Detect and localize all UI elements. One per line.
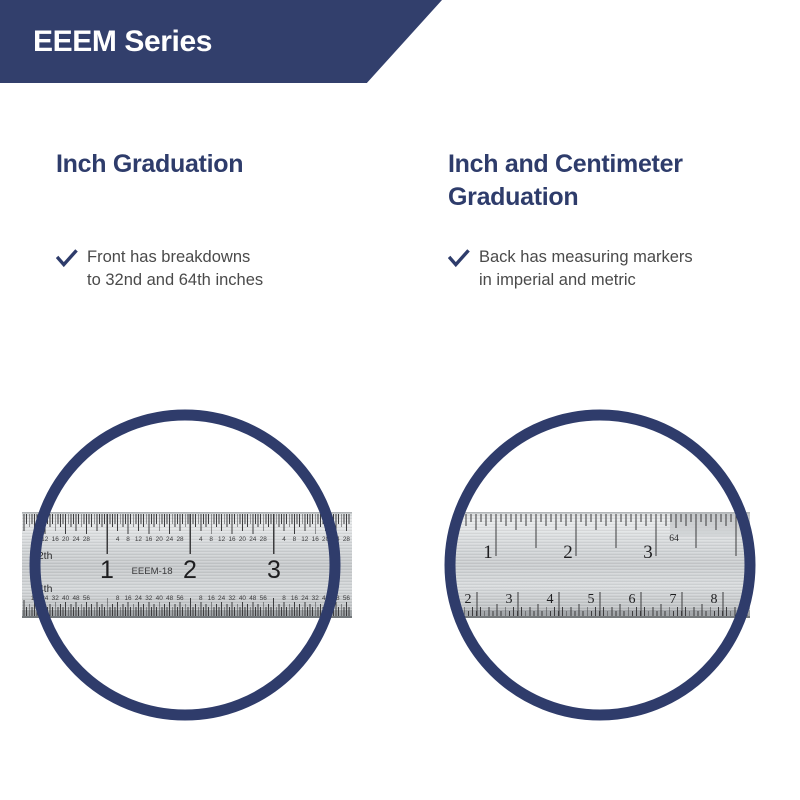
svg-text:4: 4 xyxy=(547,592,554,607)
svg-text:8: 8 xyxy=(199,595,203,602)
svg-text:12: 12 xyxy=(135,536,143,543)
svg-text:8: 8 xyxy=(116,595,120,602)
svg-text:24: 24 xyxy=(218,595,226,602)
svg-text:32: 32 xyxy=(228,595,236,602)
svg-text:32: 32 xyxy=(145,595,153,602)
back-inch-numerals: 1 2 3 64 xyxy=(483,534,679,563)
svg-text:40: 40 xyxy=(62,595,70,602)
svg-text:40: 40 xyxy=(322,595,330,602)
svg-text:8: 8 xyxy=(126,536,130,543)
svg-text:7: 7 xyxy=(670,592,677,607)
svg-text:8: 8 xyxy=(209,536,213,543)
circle-ring-back xyxy=(450,415,750,715)
svg-text:2: 2 xyxy=(465,592,472,607)
svg-text:1: 1 xyxy=(100,556,114,584)
svg-text:56: 56 xyxy=(260,595,268,602)
svg-text:56: 56 xyxy=(176,595,184,602)
svg-text:12: 12 xyxy=(301,536,309,543)
svg-text:32: 32 xyxy=(312,595,320,602)
page-title: EEEM Series xyxy=(33,24,212,60)
svg-text:20: 20 xyxy=(322,536,330,543)
svg-text:32: 32 xyxy=(52,595,60,602)
svg-text:16: 16 xyxy=(208,595,216,602)
svg-text:12: 12 xyxy=(41,536,49,543)
front-scale-labels: 32th 64th xyxy=(32,550,53,595)
svg-text:48: 48 xyxy=(332,595,340,602)
svg-text:3: 3 xyxy=(267,556,281,584)
svg-text:24: 24 xyxy=(332,536,340,543)
svg-text:28: 28 xyxy=(343,536,351,543)
svg-text:8: 8 xyxy=(33,536,37,543)
svg-text:28: 28 xyxy=(260,536,268,543)
svg-text:40: 40 xyxy=(239,595,247,602)
svg-text:3: 3 xyxy=(506,592,513,607)
svg-text:8: 8 xyxy=(293,536,297,543)
svg-text:24: 24 xyxy=(166,536,174,543)
svg-text:56: 56 xyxy=(83,595,91,602)
bullet-inch-centimeter: Back has measuring markers in imperial a… xyxy=(448,246,788,292)
svg-text:24: 24 xyxy=(135,595,143,602)
svg-text:4: 4 xyxy=(282,536,286,543)
svg-text:24: 24 xyxy=(249,536,257,543)
figure-ruler-front: 81216 202428 4812 162024 28 4812 162024 … xyxy=(22,415,352,715)
feature-columns: Inch Graduation Front has breakdowns to … xyxy=(0,148,800,292)
svg-text:2: 2 xyxy=(183,556,197,584)
svg-text:20: 20 xyxy=(239,536,247,543)
svg-text:5: 5 xyxy=(588,592,595,607)
svg-text:8: 8 xyxy=(282,595,286,602)
feature-column-inch-cm: Inch and Centimeter Graduation Back has … xyxy=(0,148,800,292)
svg-text:16: 16 xyxy=(145,536,153,543)
front-bottom-tick-numbers: 162432 404856 81624 324048 56 81624 3240… xyxy=(31,595,351,602)
ruler-brand: EEEM-18 xyxy=(131,566,172,577)
svg-text:20: 20 xyxy=(156,536,164,543)
svg-text:8: 8 xyxy=(711,592,718,607)
svg-text:40: 40 xyxy=(156,595,164,602)
svg-text:48: 48 xyxy=(72,595,80,602)
svg-text:56: 56 xyxy=(343,595,351,602)
front-inch-numerals: 1 2 3 EEEM-18 xyxy=(100,556,281,584)
svg-text:48: 48 xyxy=(249,595,257,602)
svg-text:16: 16 xyxy=(31,595,39,602)
svg-text:6: 6 xyxy=(629,592,636,607)
svg-text:4: 4 xyxy=(116,536,120,543)
svg-text:16: 16 xyxy=(291,595,299,602)
svg-text:20: 20 xyxy=(62,536,70,543)
ruler-figures: 81216 202428 4812 162024 28 4812 162024 … xyxy=(0,0,800,800)
svg-text:16: 16 xyxy=(124,595,132,602)
svg-text:4: 4 xyxy=(199,536,203,543)
check-icon xyxy=(448,248,470,270)
svg-text:16: 16 xyxy=(228,536,236,543)
svg-text:2: 2 xyxy=(563,542,573,563)
label-64: 64 xyxy=(669,534,679,544)
svg-text:1: 1 xyxy=(483,542,493,563)
svg-text:16: 16 xyxy=(312,536,320,543)
svg-text:28: 28 xyxy=(83,536,91,543)
svg-text:12: 12 xyxy=(218,536,226,543)
label-64th: 64th xyxy=(32,583,53,595)
back-cm-numbers: 234 567 89 xyxy=(465,592,759,607)
svg-text:48: 48 xyxy=(166,595,174,602)
front-top-tick-numbers: 81216 202428 4812 162024 28 4812 162024 … xyxy=(33,536,351,543)
label-32th: 32th xyxy=(32,550,53,562)
svg-text:3: 3 xyxy=(643,542,653,563)
svg-text:24: 24 xyxy=(72,536,80,543)
svg-text:28: 28 xyxy=(176,536,184,543)
svg-text:24: 24 xyxy=(301,595,309,602)
svg-text:9: 9 xyxy=(752,592,759,607)
svg-text:24: 24 xyxy=(41,595,49,602)
circle-ring-front xyxy=(35,415,335,715)
svg-text:16: 16 xyxy=(52,536,60,543)
figure-ruler-back: 1 2 3 64 234 567 89 xyxy=(450,415,764,715)
bullet-text: Back has measuring markers in imperial a… xyxy=(479,246,693,292)
heading-inch-centimeter-graduation: Inch and Centimeter Graduation xyxy=(448,148,788,214)
